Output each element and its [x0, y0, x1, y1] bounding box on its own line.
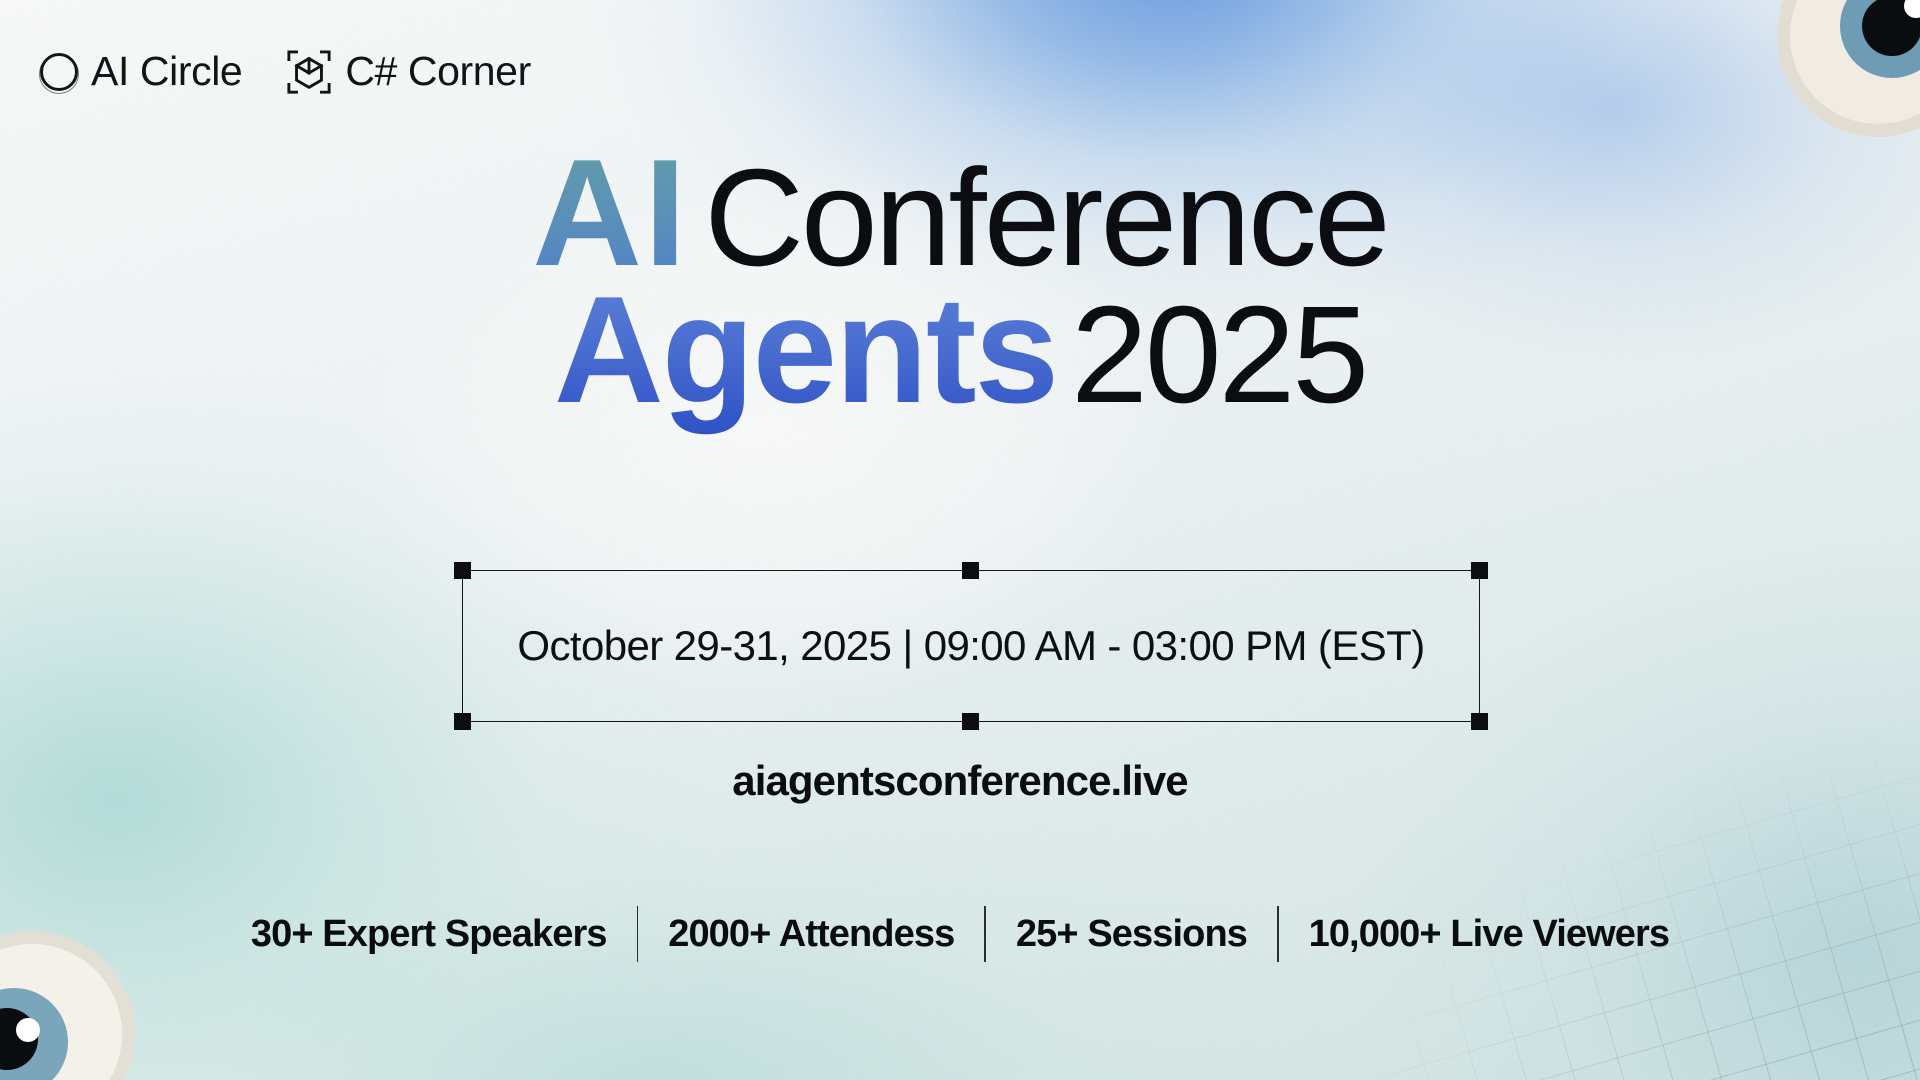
brand-logo-row: AI Circle C# Corner: [40, 48, 531, 95]
title-word-year: 2025: [1071, 278, 1366, 432]
date-selection-box: October 29-31, 2025 | 09:00 AM - 03:00 P…: [462, 570, 1480, 722]
title-word-agents: Agents: [554, 265, 1057, 435]
cube-icon: [286, 49, 332, 95]
title-line-two: Agents2025: [0, 279, 1920, 422]
page-title: AIConference Agents2025: [0, 142, 1920, 422]
stat-expert-speakers: 30+ Expert Speakers: [221, 913, 637, 956]
stat-attendees: 2000+ Attendess: [638, 913, 984, 956]
brand-csharp-corner[interactable]: C# Corner: [286, 48, 531, 95]
event-date-time-text: October 29-31, 2025 | 09:00 AM - 03:00 P…: [517, 622, 1424, 670]
selection-handle-top-center[interactable]: [962, 562, 979, 579]
website-url[interactable]: aiagentsconference.live: [0, 757, 1920, 805]
stat-sessions: 25+ Sessions: [986, 913, 1277, 956]
brand-ai-circle[interactable]: AI Circle: [40, 48, 242, 95]
selection-handle-bottom-center[interactable]: [962, 713, 979, 730]
selection-handle-top-right[interactable]: [1471, 562, 1488, 579]
brand-csharp-corner-label: C# Corner: [345, 48, 531, 95]
selection-handle-top-left[interactable]: [454, 562, 471, 579]
selection-handle-bottom-right[interactable]: [1471, 713, 1488, 730]
conference-banner: AI Circle C# Corner AIConference: [0, 0, 1920, 1080]
selection-handle-bottom-left[interactable]: [454, 713, 471, 730]
brand-ai-circle-label: AI Circle: [91, 48, 242, 95]
title-line-one: AIConference: [0, 142, 1920, 285]
statistics-row: 30+ Expert Speakers 2000+ Attendess 25+ …: [0, 906, 1920, 962]
circle-outline-icon: [40, 53, 78, 91]
stat-live-viewers: 10,000+ Live Viewers: [1279, 913, 1700, 956]
